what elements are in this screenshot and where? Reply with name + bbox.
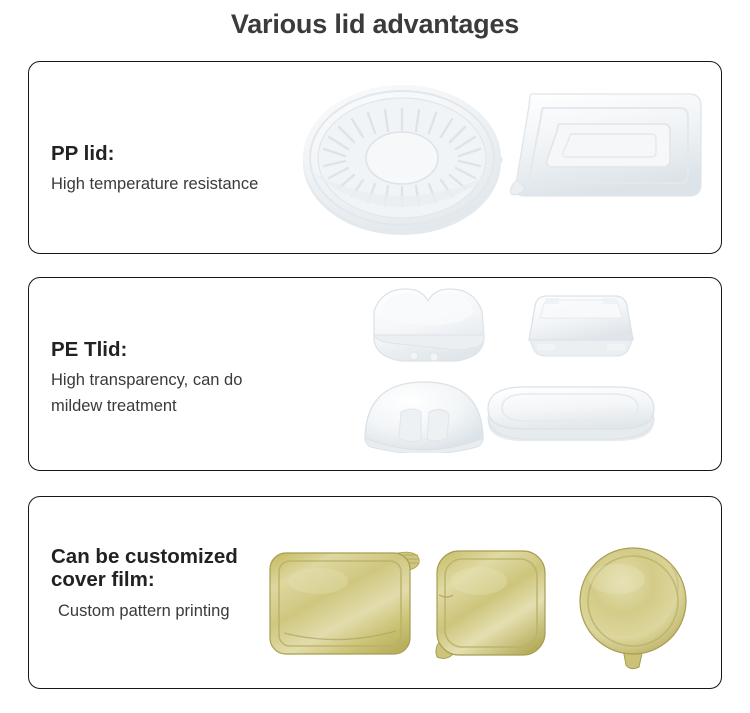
- panel-pet-text-block: PE Tlid: High transparency, can do milde…: [51, 338, 242, 419]
- dome-pet-lid-image: [359, 378, 489, 453]
- rectangular-gold-foil-lid-image: [266, 547, 426, 662]
- panel-cover-film-heading: Can be customized cover film:: [51, 545, 238, 592]
- panel-cover-film-text-block: Can be customized cover film: Custom pat…: [51, 545, 238, 624]
- round-pp-lid-image: [302, 80, 532, 240]
- oval-pet-lid-image: [484, 383, 659, 451]
- panel-pp-lid: PP lid: High temperature resistance: [28, 61, 722, 254]
- page-title: Various lid advantages: [0, 9, 750, 40]
- square-pet-lid-image: [521, 288, 641, 368]
- panel-cover-film-description: Custom pattern printing: [51, 599, 238, 625]
- round-gold-foil-lid-image: [567, 545, 702, 670]
- panel-pp-heading: PP lid:: [51, 142, 258, 165]
- panel-pet-lid: PE Tlid: High transparency, can do milde…: [28, 277, 722, 471]
- panel-pet-description: High transparency, can do mildew treatme…: [51, 368, 242, 419]
- panel-pp-text-block: PP lid: High temperature resistance: [51, 142, 258, 198]
- panel-cover-film: Can be customized cover film: Custom pat…: [28, 496, 722, 689]
- rectangular-pp-lid-image: [501, 80, 711, 230]
- square-gold-foil-lid-image: [427, 547, 557, 667]
- panel-pp-description: High temperature resistance: [51, 172, 258, 198]
- heart-dome-pet-lid-image: [356, 285, 501, 370]
- panel-pet-heading: PE Tlid:: [51, 338, 242, 361]
